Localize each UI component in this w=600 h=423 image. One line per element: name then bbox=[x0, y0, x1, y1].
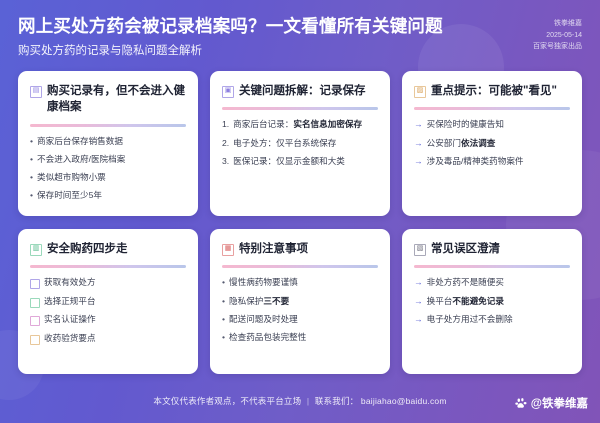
list-item-text: 检查药品包装完整性 bbox=[229, 332, 306, 344]
watermark: @铁拳维嘉 bbox=[515, 395, 588, 411]
list-marker-arrow: → bbox=[414, 119, 423, 131]
list-item-text-plain: 选择正规平台 bbox=[44, 296, 96, 306]
list-item: 实名认证操作 bbox=[30, 314, 186, 326]
card-header: ▦特别注意事项 bbox=[222, 241, 378, 258]
list-marker-dot: • bbox=[30, 190, 33, 202]
card-body: 获取有效处方选择正规平台实名认证操作收药验货要点 bbox=[30, 277, 186, 363]
list-item-text-plain: 获取有效处方 bbox=[44, 277, 96, 287]
page-subtitle: 购买处方药的记录与隐私问题全解析 bbox=[18, 44, 443, 59]
list-item-text-plain: 电子处方用过不会删除 bbox=[427, 314, 513, 324]
list-item: 选择正规平台 bbox=[30, 296, 186, 308]
list-item-text-emphasis: 三不要 bbox=[263, 296, 289, 306]
poster-footer: 本文仅代表作者观点，不代表平台立场 | 联系我们： baijiahao@baid… bbox=[0, 379, 600, 423]
list-item-text: 电子处方：仅平台系统保存 bbox=[233, 138, 336, 150]
list-item-text: 不会进入政府/医院档案 bbox=[37, 154, 125, 166]
list-item-text-emphasis: 依法调查 bbox=[461, 138, 495, 148]
list-marker-dot: • bbox=[222, 296, 225, 308]
list-item-text-plain: 慢性病药物要谨慎 bbox=[229, 277, 298, 287]
card-title: 安全购药四步走 bbox=[47, 241, 186, 258]
card-title: 重点提示：可能被"看见" bbox=[431, 83, 570, 100]
list-item-text-plain: 医保记录：仅显示金额和大类 bbox=[233, 156, 345, 166]
list-item: →换平台不能避免记录 bbox=[414, 296, 570, 308]
alert-icon: ▦ bbox=[222, 244, 234, 256]
list-marker-check bbox=[30, 298, 40, 308]
card-header: ▥安全购药四步走 bbox=[30, 241, 186, 258]
info-card: ▦特别注意事项•慢性病药物要谨慎•隐私保护三不要•配送问题及时处理•检查药品包装… bbox=[210, 229, 390, 374]
list-marker-dot: • bbox=[222, 332, 225, 344]
card-divider bbox=[30, 124, 186, 127]
footer-contact-label: 联系我们： bbox=[315, 396, 359, 406]
list-item-text: 商家后台保存销售数据 bbox=[37, 136, 123, 148]
card-header: ▤购买记录有，但不会进入健康档案 bbox=[30, 83, 186, 116]
footer-separator: | bbox=[307, 396, 309, 406]
list-item-text: 选择正规平台 bbox=[44, 296, 96, 308]
card-title: 购买记录有，但不会进入健康档案 bbox=[47, 83, 186, 116]
key-icon: ▣ bbox=[222, 86, 234, 98]
list-marker-dot: • bbox=[222, 314, 225, 326]
card-divider bbox=[222, 265, 378, 268]
info-card: ▣关键问题拆解：记录保存1.商家后台记录：实名信息加密保存2.电子处方：仅平台系… bbox=[210, 71, 390, 216]
card-title: 常见误区澄清 bbox=[431, 241, 570, 258]
card-divider bbox=[30, 265, 186, 268]
footer-contact-email: baijiahao@baidu.com bbox=[361, 396, 447, 406]
list-item: →电子处方用过不会删除 bbox=[414, 314, 570, 326]
list-item-text-plain: 实名认证操作 bbox=[44, 314, 96, 324]
card-list: 获取有效处方选择正规平台实名认证操作收药验货要点 bbox=[30, 277, 186, 345]
card-list: •慢性病药物要谨慎•隐私保护三不要•配送问题及时处理•检查药品包装完整性 bbox=[222, 277, 378, 343]
list-marker-dot: • bbox=[30, 136, 33, 148]
list-item: •商家后台保存销售数据 bbox=[30, 136, 186, 148]
info-card: ▥安全购药四步走获取有效处方选择正规平台实名认证操作收药验货要点 bbox=[18, 229, 198, 374]
clarify-icon: ▧ bbox=[414, 244, 426, 256]
footer-text: 本文仅代表作者观点，不代表平台立场 | 联系我们： baijiahao@baid… bbox=[153, 395, 446, 407]
watermark-label: @铁拳维嘉 bbox=[531, 395, 588, 411]
list-item: •检查药品包装完整性 bbox=[222, 332, 378, 344]
list-marker-check bbox=[30, 316, 40, 326]
list-item-text: 电子处方用过不会删除 bbox=[427, 314, 513, 326]
list-item-text-plain: 换平台 bbox=[427, 296, 453, 306]
info-card: ▧常见误区澄清→非处方药不是随便买→换平台不能避免记录→电子处方用过不会删除 bbox=[402, 229, 582, 374]
list-marker-dot: • bbox=[30, 154, 33, 166]
list-item-text: 商家后台记录：实名信息加密保存 bbox=[233, 119, 362, 131]
list-item-text-plain: 检查药品包装完整性 bbox=[229, 332, 306, 342]
list-marker-number: 2. bbox=[222, 138, 229, 150]
list-item-text-emphasis: 实名信息加密保存 bbox=[293, 119, 362, 129]
card-header: ▨重点提示：可能被"看见" bbox=[414, 83, 570, 100]
warning-icon: ▨ bbox=[414, 86, 426, 98]
list-item: 获取有效处方 bbox=[30, 277, 186, 289]
list-item: 1.商家后台记录：实名信息加密保存 bbox=[222, 119, 378, 131]
list-marker-number: 1. bbox=[222, 119, 229, 131]
list-marker-arrow: → bbox=[414, 277, 423, 289]
list-item: •慢性病药物要谨慎 bbox=[222, 277, 378, 289]
list-item-text: 配送问题及时处理 bbox=[229, 314, 298, 326]
list-item-text-plain: 涉及毒品/精神类药物案件 bbox=[427, 156, 524, 166]
list-marker-number: 3. bbox=[222, 156, 229, 168]
list-item-text: 隐私保护三不要 bbox=[229, 296, 289, 308]
list-item-text-plain: 商家后台保存销售数据 bbox=[37, 136, 123, 146]
list-item: •保存时间至少5年 bbox=[30, 190, 186, 202]
list-marker-arrow: → bbox=[414, 138, 423, 150]
list-item-text: 医保记录：仅显示金额和大类 bbox=[233, 156, 345, 168]
list-item-text: 类似超市购物小票 bbox=[37, 172, 106, 184]
card-body: →非处方药不是随便买→换平台不能避免记录→电子处方用过不会删除 bbox=[414, 277, 570, 363]
card-grid: ▤购买记录有，但不会进入健康档案•商家后台保存销售数据•不会进入政府/医院档案•… bbox=[18, 71, 582, 374]
list-item-text-plain: 配送问题及时处理 bbox=[229, 314, 298, 324]
list-item: •隐私保护三不要 bbox=[222, 296, 378, 308]
meta-date: 2025-05-14 bbox=[533, 30, 582, 42]
list-marker-dot: • bbox=[30, 172, 33, 184]
list-item-text: 获取有效处方 bbox=[44, 277, 96, 289]
list-item-text-plain: 收药验货要点 bbox=[44, 333, 96, 343]
card-list: →买保险时的健康告知→公安部门依法调查→涉及毒品/精神类药物案件 bbox=[414, 119, 570, 167]
header-meta: 铁拳维嘉 2025-05-14 百家号独家出品 bbox=[533, 16, 582, 53]
list-item-text-plain: 买保险时的健康告知 bbox=[427, 119, 504, 129]
page-title: 网上买处方药会被记录档案吗？一文看懂所有关键问题 bbox=[18, 16, 443, 38]
list-item: →买保险时的健康告知 bbox=[414, 119, 570, 131]
list-marker-check bbox=[30, 279, 40, 289]
header-text-group: 网上买处方药会被记录档案吗？一文看懂所有关键问题 购买处方药的记录与隐私问题全解… bbox=[18, 16, 443, 59]
list-item-text: 涉及毒品/精神类药物案件 bbox=[427, 156, 524, 168]
list-item: •类似超市购物小票 bbox=[30, 172, 186, 184]
card-list: →非处方药不是随便买→换平台不能避免记录→电子处方用过不会删除 bbox=[414, 277, 570, 325]
list-item-text: 换平台不能避免记录 bbox=[427, 296, 504, 308]
card-header: ▣关键问题拆解：记录保存 bbox=[222, 83, 378, 100]
list-item: 2.电子处方：仅平台系统保存 bbox=[222, 138, 378, 150]
list-item-text: 慢性病药物要谨慎 bbox=[229, 277, 298, 289]
list-item: 3.医保记录：仅显示金额和大类 bbox=[222, 156, 378, 168]
list-item: 收药验货要点 bbox=[30, 333, 186, 345]
list-marker-check bbox=[30, 335, 40, 345]
list-item-text-plain: 类似超市购物小票 bbox=[37, 172, 106, 182]
info-card: ▨重点提示：可能被"看见"→买保险时的健康告知→公安部门依法调查→涉及毒品/精神… bbox=[402, 71, 582, 216]
list-item-text-plain: 电子处方：仅平台系统保存 bbox=[233, 138, 336, 148]
card-title: 特别注意事项 bbox=[239, 241, 378, 258]
list-marker-arrow: → bbox=[414, 314, 423, 326]
footer-disclaimer: 本文仅代表作者观点，不代表平台立场 bbox=[153, 396, 301, 406]
list-item-text: 公安部门依法调查 bbox=[427, 138, 496, 150]
meta-author: 铁拳维嘉 bbox=[533, 18, 582, 30]
list-item-text-plain: 隐私保护 bbox=[229, 296, 263, 306]
list-item-text: 实名认证操作 bbox=[44, 314, 96, 326]
list-item-text: 收药验货要点 bbox=[44, 333, 96, 345]
card-body: 1.商家后台记录：实名信息加密保存2.电子处方：仅平台系统保存3.医保记录：仅显… bbox=[222, 119, 378, 205]
card-list: •商家后台保存销售数据•不会进入政府/医院档案•类似超市购物小票•保存时间至少5… bbox=[30, 136, 186, 202]
card-divider bbox=[414, 265, 570, 268]
steps-icon: ▥ bbox=[30, 244, 42, 256]
baidu-paw-icon bbox=[515, 397, 528, 410]
infographic-poster: 网上买处方药会被记录档案吗？一文看懂所有关键问题 购买处方药的记录与隐私问题全解… bbox=[0, 0, 600, 423]
list-item: →涉及毒品/精神类药物案件 bbox=[414, 156, 570, 168]
card-list: 1.商家后台记录：实名信息加密保存2.电子处方：仅平台系统保存3.医保记录：仅显… bbox=[222, 119, 378, 167]
list-item-text: 买保险时的健康告知 bbox=[427, 119, 504, 131]
list-item: →公安部门依法调查 bbox=[414, 138, 570, 150]
document-icon: ▤ bbox=[30, 86, 42, 98]
card-divider bbox=[414, 107, 570, 110]
list-item-text-plain: 商家后台记录： bbox=[233, 119, 293, 129]
list-item-text: 保存时间至少5年 bbox=[37, 190, 102, 202]
card-body: •慢性病药物要谨慎•隐私保护三不要•配送问题及时处理•检查药品包装完整性 bbox=[222, 277, 378, 363]
card-body: •商家后台保存销售数据•不会进入政府/医院档案•类似超市购物小票•保存时间至少5… bbox=[30, 136, 186, 206]
meta-source: 百家号独家出品 bbox=[533, 41, 582, 53]
list-marker-arrow: → bbox=[414, 296, 423, 308]
card-title: 关键问题拆解：记录保存 bbox=[239, 83, 378, 100]
list-item-text-plain: 保存时间至少5年 bbox=[37, 190, 102, 200]
card-divider bbox=[222, 107, 378, 110]
poster-header: 网上买处方药会被记录档案吗？一文看懂所有关键问题 购买处方药的记录与隐私问题全解… bbox=[0, 0, 600, 59]
list-item: →非处方药不是随便买 bbox=[414, 277, 570, 289]
card-header: ▧常见误区澄清 bbox=[414, 241, 570, 258]
list-marker-dot: • bbox=[222, 277, 225, 289]
list-item: •配送问题及时处理 bbox=[222, 314, 378, 326]
list-item-text-plain: 公安部门 bbox=[427, 138, 461, 148]
info-card: ▤购买记录有，但不会进入健康档案•商家后台保存销售数据•不会进入政府/医院档案•… bbox=[18, 71, 198, 216]
list-item-text-plain: 不会进入政府/医院档案 bbox=[37, 154, 125, 164]
card-body: →买保险时的健康告知→公安部门依法调查→涉及毒品/精神类药物案件 bbox=[414, 119, 570, 205]
list-item-text-emphasis: 不能避免记录 bbox=[452, 296, 504, 306]
list-item-text-plain: 非处方药不是随便买 bbox=[427, 277, 504, 287]
list-item: •不会进入政府/医院档案 bbox=[30, 154, 186, 166]
list-item-text: 非处方药不是随便买 bbox=[427, 277, 504, 289]
list-marker-arrow: → bbox=[414, 156, 423, 168]
